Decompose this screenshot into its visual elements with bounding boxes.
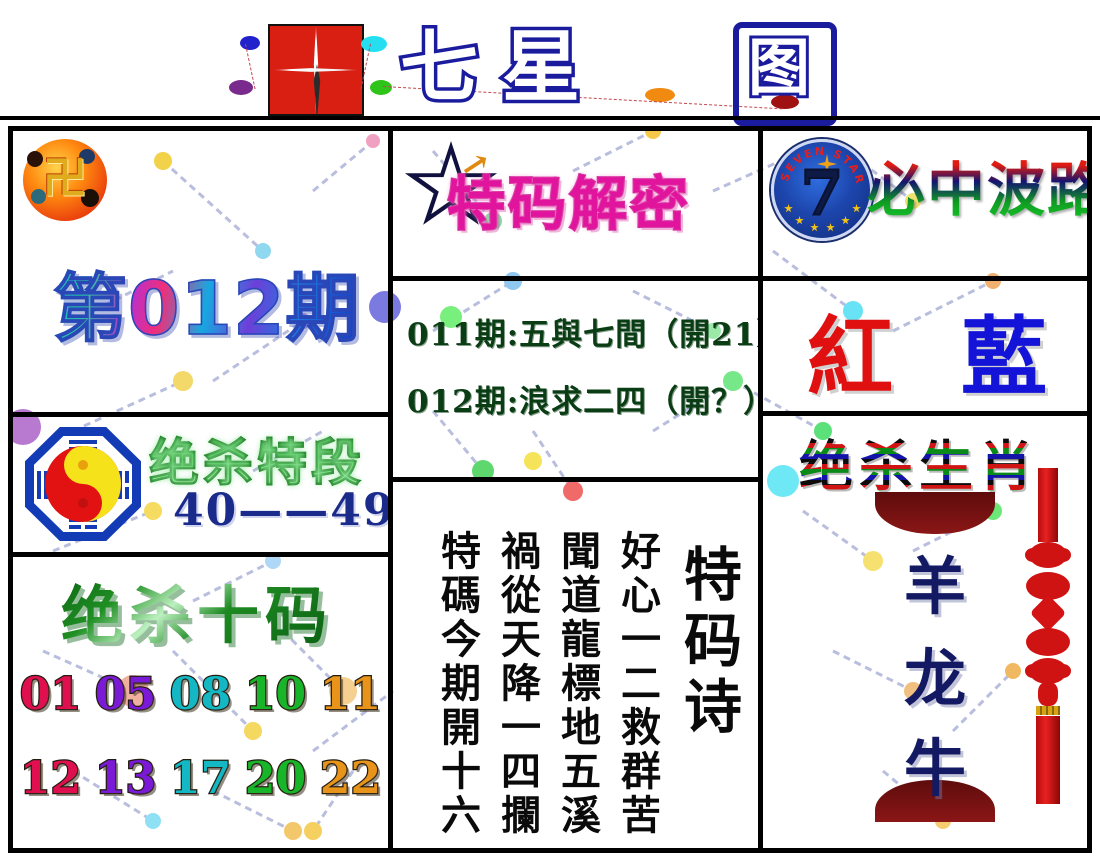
panel-kill-ten: 绝杀十码 01 05 08 10 11 12 13 17 20 22 [13,557,388,848]
chinese-knot-decoration [1025,468,1071,818]
badge-number: 7 [800,156,843,229]
kill-zodiac-title: 绝杀生肖 [799,422,1039,501]
panel-kill-segment: 绝杀特段 40——49 [13,417,388,552]
poem-line-4: 特碼今期開十六 [428,530,486,838]
zodiac-frame: 羊 龙 牛 [875,492,995,822]
header-divider [0,116,1100,120]
title-char-1: 七 [400,18,502,118]
kill-ten-row-2: 12 13 17 20 22 [13,757,388,801]
kill-number: 10 [245,673,306,717]
header-dot-purple [229,80,253,95]
zodiac-char-1: 羊 [875,536,995,626]
kill-ten-title: 绝杀十码 [61,565,333,655]
poem-line-1: 好心一二救群苦 [608,530,666,838]
kill-number: 12 [20,757,81,801]
kill-number: 05 [95,673,156,717]
kill-number: 17 [170,757,231,801]
kill-number: 20 [245,757,306,801]
seven-stars-badge-icon: SEVEN STARS 7 [771,139,873,241]
panel-poem: 特码诗 好心一二救群苦 聞道龍標地五溪 禍從天降一四攔 特碼今期開十六 [393,482,758,848]
header-dot-green [370,80,392,95]
title-char-3: 图 [733,18,825,118]
color-red-label: 紅 [807,287,893,411]
kill-number: 22 [320,757,381,801]
kill-segment-range: 40——49 [173,485,388,536]
swastika-sun-logo: 卍 [23,139,107,221]
panel-wave-title: SEVEN STARS 7 必中波路 [763,131,1087,276]
kill-number: 01 [20,673,81,717]
content-frame: 卍 第012期 绝 [8,126,1092,853]
wave-title: 必中波路 [867,143,1087,227]
decrypt-line-1: 011期:五與七間（開21） [407,309,758,354]
poem-line-3: 禍從天降一四攔 [488,530,546,838]
issue-number-text: 第012期 [53,249,360,356]
header-dot-blue [240,36,260,50]
red-star-logo [268,24,364,116]
panel-decrypt-title: ↗ 特码解密 [393,131,758,276]
panel-issue: 卍 第012期 [13,131,388,412]
kill-number: 08 [170,673,231,717]
page-header: 七星 图 [0,0,1100,120]
kill-number: 13 [95,757,156,801]
poem-line-2: 聞道龍標地五溪 [548,530,606,838]
swastika-symbol: 卍 [43,157,87,201]
kill-ten-row-1: 01 05 08 10 11 [13,673,388,717]
title-char-2: 星 [502,18,604,118]
header-dot-cyan [361,36,387,52]
decrypt-line-2: 012期:浪求二四（開？） [407,376,758,421]
panel-decrypt-lines: 011期:五與七間（開21） 012期:浪求二四（開？） [393,281,758,477]
color-blue-label: 藍 [961,287,1047,411]
zodiac-char-3: 牛 [875,718,995,808]
kill-number: 11 [320,673,381,717]
zodiac-char-2: 龙 [875,628,995,718]
decrypt-title: 特码解密 [447,157,691,241]
poem-title: 特码诗 [666,544,750,742]
panel-wave-colors: 紅 藍 [763,281,1087,411]
panel-kill-zodiac: 绝杀生肖 羊 龙 牛 [763,416,1087,848]
zodiac-frame-top [875,492,995,534]
bagua-yinyang-logo [25,427,141,541]
